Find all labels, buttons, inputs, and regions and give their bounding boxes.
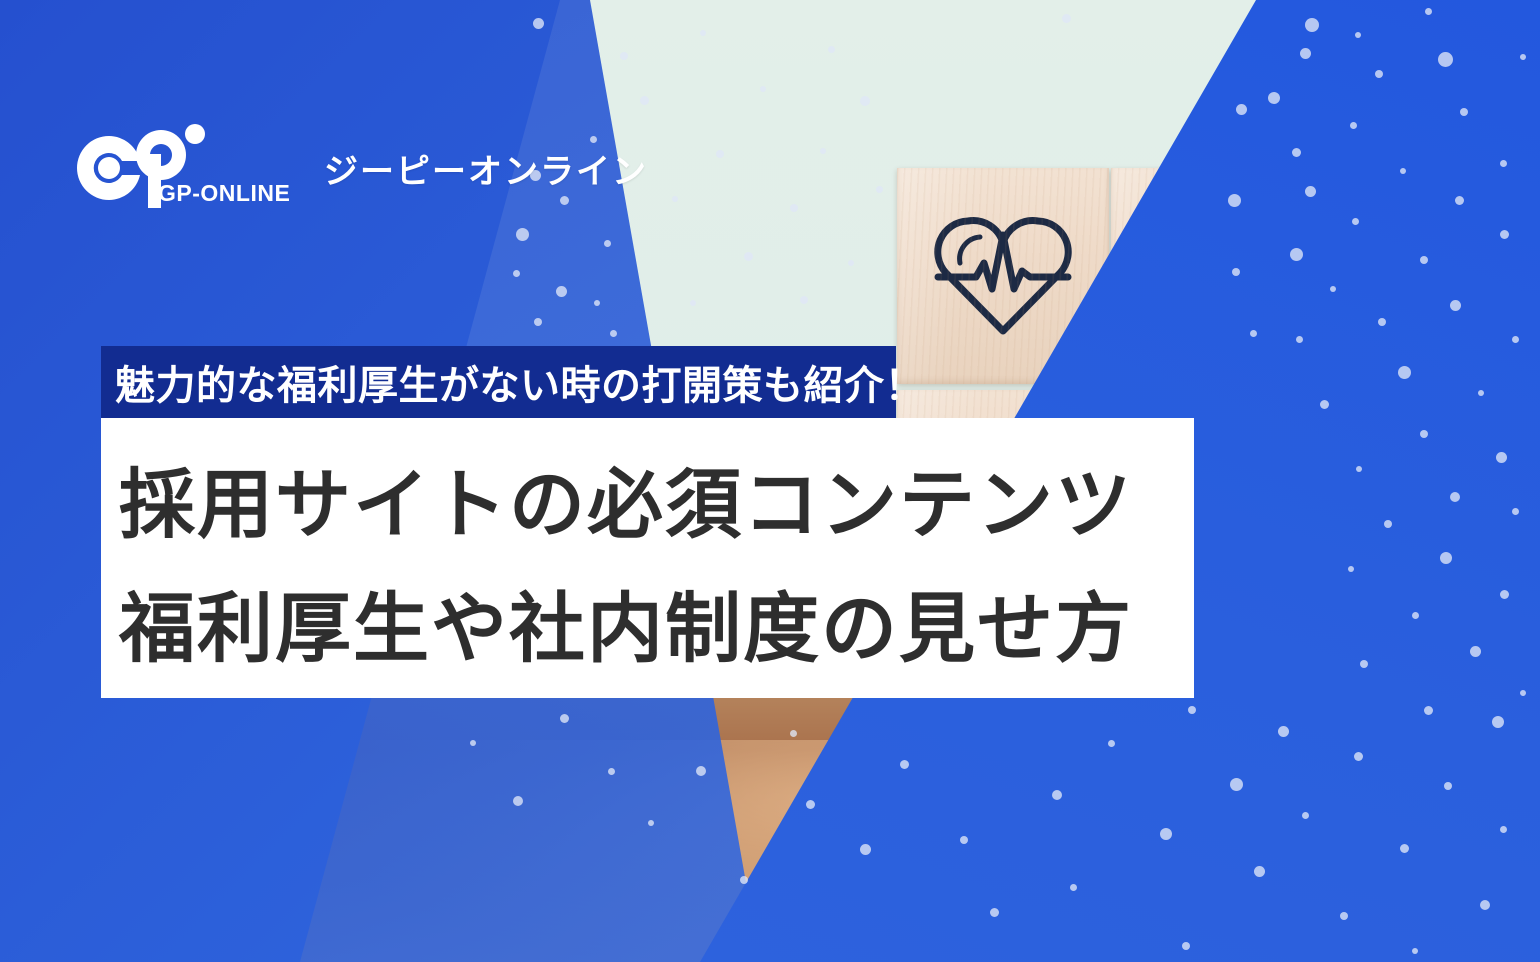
title-line-2: 福利厚生や社内制度の見せ方 xyxy=(119,568,1194,692)
title-line-1: 採用サイトの必須コンテンツ xyxy=(119,444,1194,568)
heartbeat-heart-icon xyxy=(928,211,1078,341)
thumbnail-canvas: GP-ONLINE ジーピーオンライン 魅力的な福利厚生がない時の打開策も紹介！… xyxy=(0,0,1540,962)
company-name: ジーピーオンライン xyxy=(324,144,648,193)
eyebrow-text: 魅力的な福利厚生がない時の打開策も紹介！ xyxy=(115,353,925,411)
eyebrow-banner: 魅力的な福利厚生がない時の打開策も紹介！ xyxy=(101,346,896,418)
title-card: 採用サイトの必須コンテンツ 福利厚生や社内制度の見せ方 xyxy=(101,418,1194,698)
gp-online-logo[interactable]: GP-ONLINE xyxy=(62,118,262,218)
logo-wordmark: GP-ONLINE xyxy=(158,180,290,207)
brand-lockup[interactable]: GP-ONLINE ジーピーオンライン xyxy=(62,118,648,218)
